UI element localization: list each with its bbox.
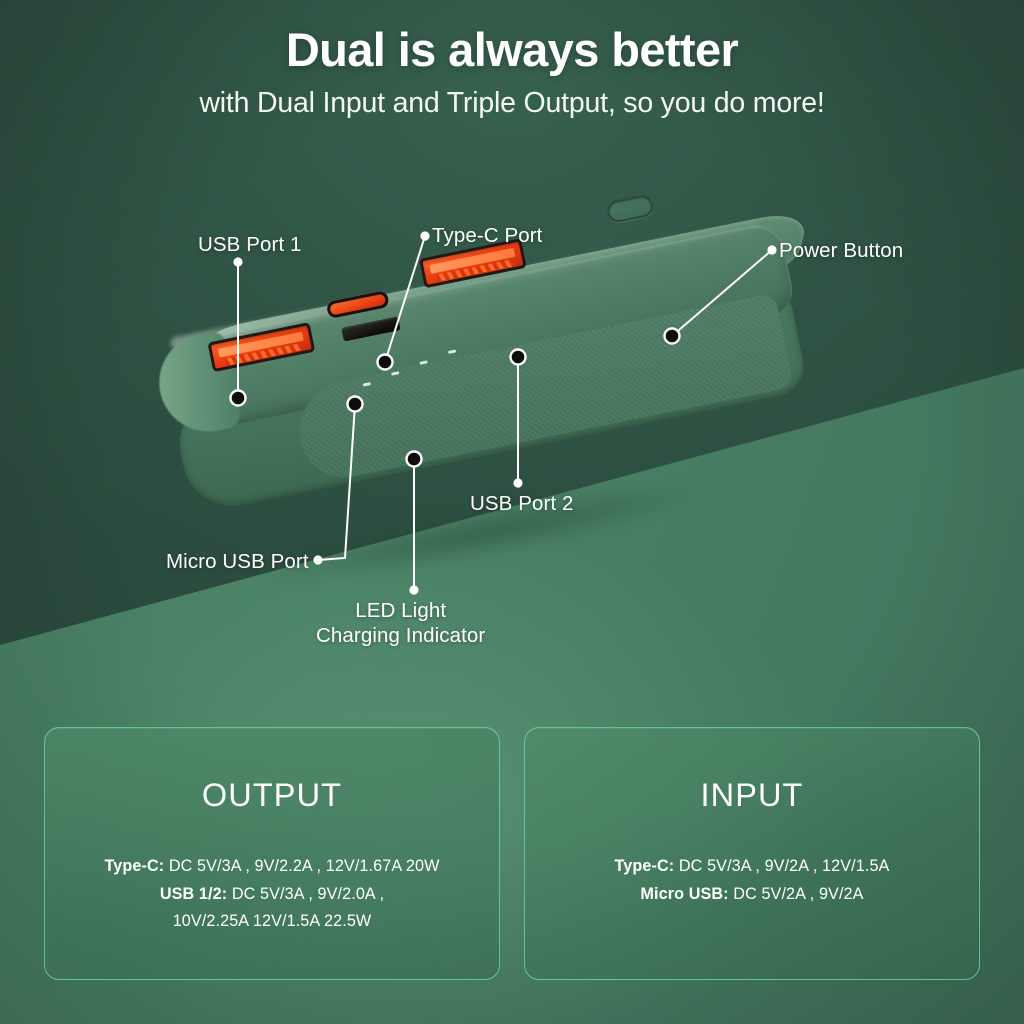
spec-key: Type-C: — [615, 857, 675, 875]
output-card-rows: Type-C: DC 5V/3A , 9V/2.2A , 12V/1.67A 2… — [45, 853, 499, 936]
output-spec-card: OUTPUT Type-C: DC 5V/3A , 9V/2.2A , 12V/… — [44, 727, 500, 980]
page-title: Dual is always better — [0, 22, 1024, 77]
header: Dual is always better with Dual Input an… — [0, 0, 1024, 120]
spec-value: DC 5V/3A , 9V/2A , 12V/1.5A — [679, 857, 890, 875]
spec-value: DC 5V/3A , 9V/2.0A , — [232, 885, 384, 903]
input-card-rows: Type-C: DC 5V/3A , 9V/2A , 12V/1.5A Micr… — [525, 853, 979, 908]
spec-value: DC 5V/3A , 9V/2.2A , 12V/1.67A 20W — [169, 857, 440, 875]
spec-key: USB 1/2: — [160, 885, 227, 903]
spec-row: Type-C: DC 5V/3A , 9V/2A , 12V/1.5A — [525, 853, 979, 881]
spec-value: 10V/2.25A 12V/1.5A 22.5W — [173, 912, 372, 930]
spec-key: Type-C: — [104, 857, 164, 875]
input-spec-card: INPUT Type-C: DC 5V/3A , 9V/2A , 12V/1.5… — [524, 727, 980, 980]
spec-row: Micro USB: DC 5V/2A , 9V/2A — [525, 881, 979, 909]
page-subtitle: with Dual Input and Triple Output, so yo… — [0, 87, 1024, 120]
spec-row: Type-C: DC 5V/3A , 9V/2.2A , 12V/1.67A 2… — [45, 853, 499, 881]
spec-row: USB 1/2: DC 5V/3A , 9V/2.0A , — [45, 881, 499, 909]
spec-key: Micro USB: — [640, 885, 728, 903]
input-card-title: INPUT — [525, 777, 979, 814]
spec-row: 10V/2.25A 12V/1.5A 22.5W — [45, 908, 499, 936]
spec-cards: OUTPUT Type-C: DC 5V/3A , 9V/2.2A , 12V/… — [0, 0, 1024, 1024]
output-card-title: OUTPUT — [45, 777, 499, 814]
spec-value: DC 5V/2A , 9V/2A — [733, 885, 863, 903]
